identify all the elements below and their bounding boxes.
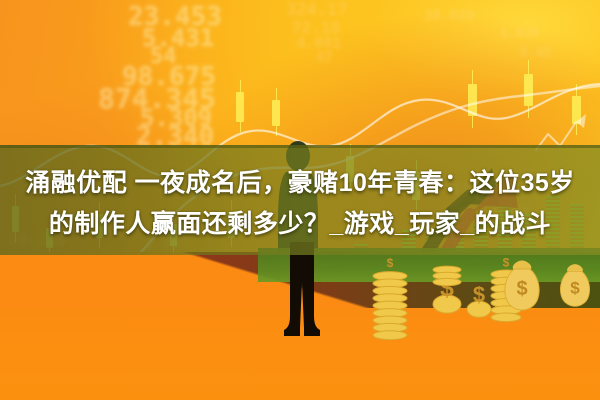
money-bag: $ [500, 258, 544, 312]
coin-stack: $ [372, 258, 408, 340]
money-bag: $ [556, 262, 594, 308]
coin-stack: $ [466, 286, 492, 318]
svg-text:$: $ [516, 278, 527, 300]
headline-line-2: 的制作人赢面还剩多少？_游戏_玩家_的战斗 [0, 204, 600, 245]
svg-text:$: $ [473, 286, 485, 307]
svg-text:$: $ [387, 258, 394, 270]
svg-text:$: $ [570, 279, 580, 298]
headline-band-edge [0, 145, 600, 148]
coin-stack [432, 258, 462, 286]
headline-text: 涌融优配 一夜成名后，豪赌10年青春：这位35岁 的制作人赢面还剩多少？_游戏_… [0, 163, 600, 245]
headline-line-1: 涌融优配 一夜成名后，豪赌10年青春：这位35岁 [0, 163, 600, 204]
banner-image: 23.4535.4315498.675874.3455.3092.340324.… [0, 0, 600, 400]
